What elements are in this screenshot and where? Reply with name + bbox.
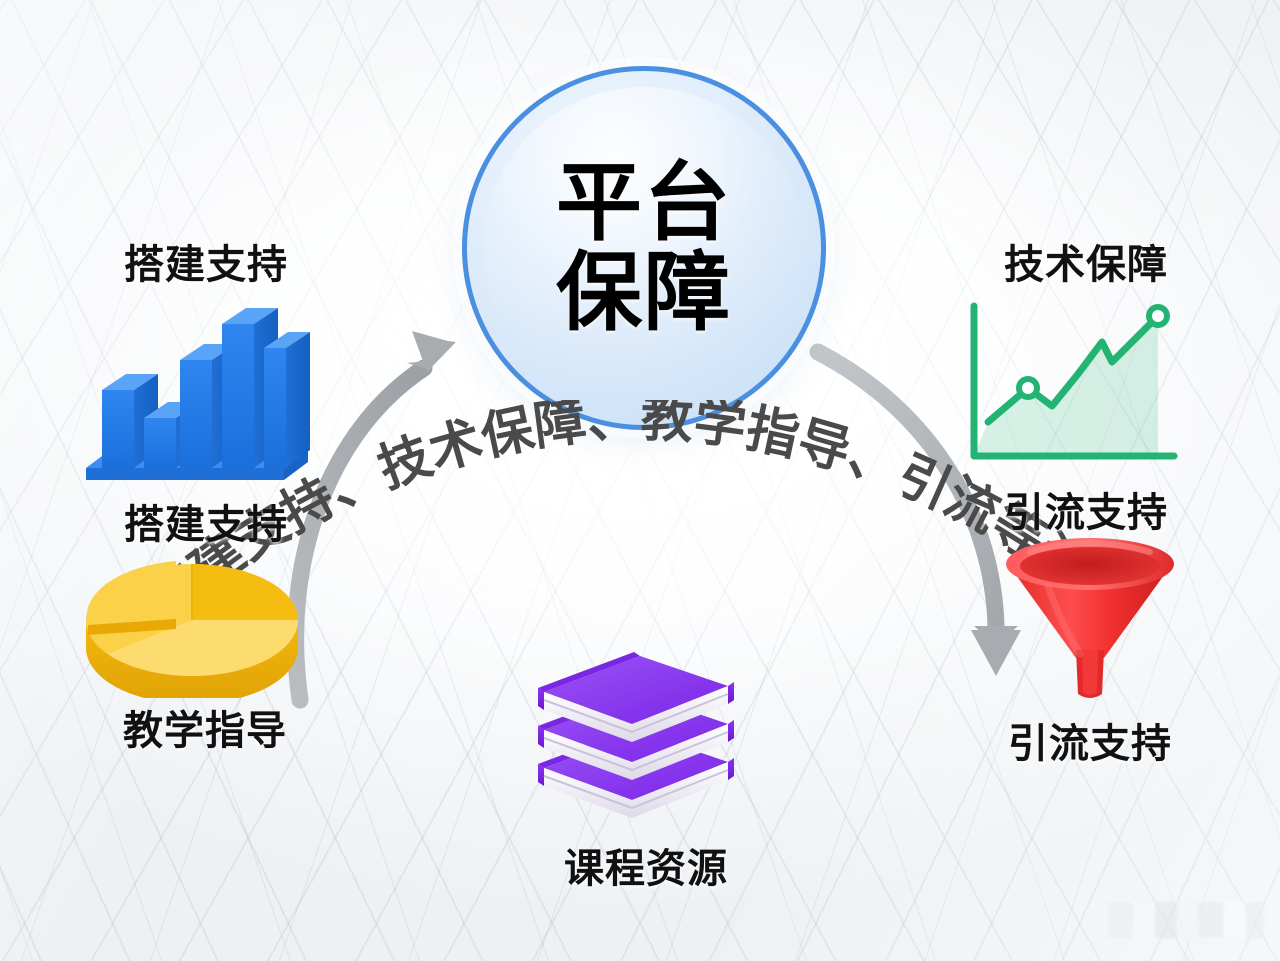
hub-title-line2: 保障 (556, 248, 732, 338)
node-course-resources[interactable]: 课程资源 (512, 636, 780, 894)
node-build-support-label-bottom: 搭建支持 (72, 492, 340, 550)
books-icon (512, 636, 780, 836)
node-build-support[interactable]: 搭建支持 (72, 232, 340, 550)
line-chart-icon (952, 296, 1220, 476)
hub-title-line1: 平台 (556, 158, 732, 248)
node-traffic-support[interactable]: 引流支持 (952, 526, 1228, 769)
watermark-mosaic (1108, 902, 1264, 938)
node-tech-guarantee-label-top: 技术保障 (952, 232, 1220, 290)
node-build-support-label-top: 搭建支持 (72, 232, 340, 290)
pie-chart-icon (62, 548, 348, 698)
infographic-canvas: 平台 保障 搭建支持、技术保障、教学指导、引流等资源 搭建支持 (0, 0, 1280, 961)
node-traffic-support-label: 引流支持 (952, 711, 1228, 769)
bar-chart-icon (72, 298, 340, 488)
funnel-icon (952, 526, 1228, 711)
node-course-resources-label: 课程资源 (512, 836, 780, 894)
node-tech-guarantee[interactable]: 技术保障 引流支持 (952, 232, 1220, 538)
center-hub[interactable]: 平台 保障 (462, 66, 826, 430)
node-teaching-guidance[interactable]: 教学指导 (62, 548, 348, 756)
node-teaching-guidance-label: 教学指导 (62, 698, 348, 756)
